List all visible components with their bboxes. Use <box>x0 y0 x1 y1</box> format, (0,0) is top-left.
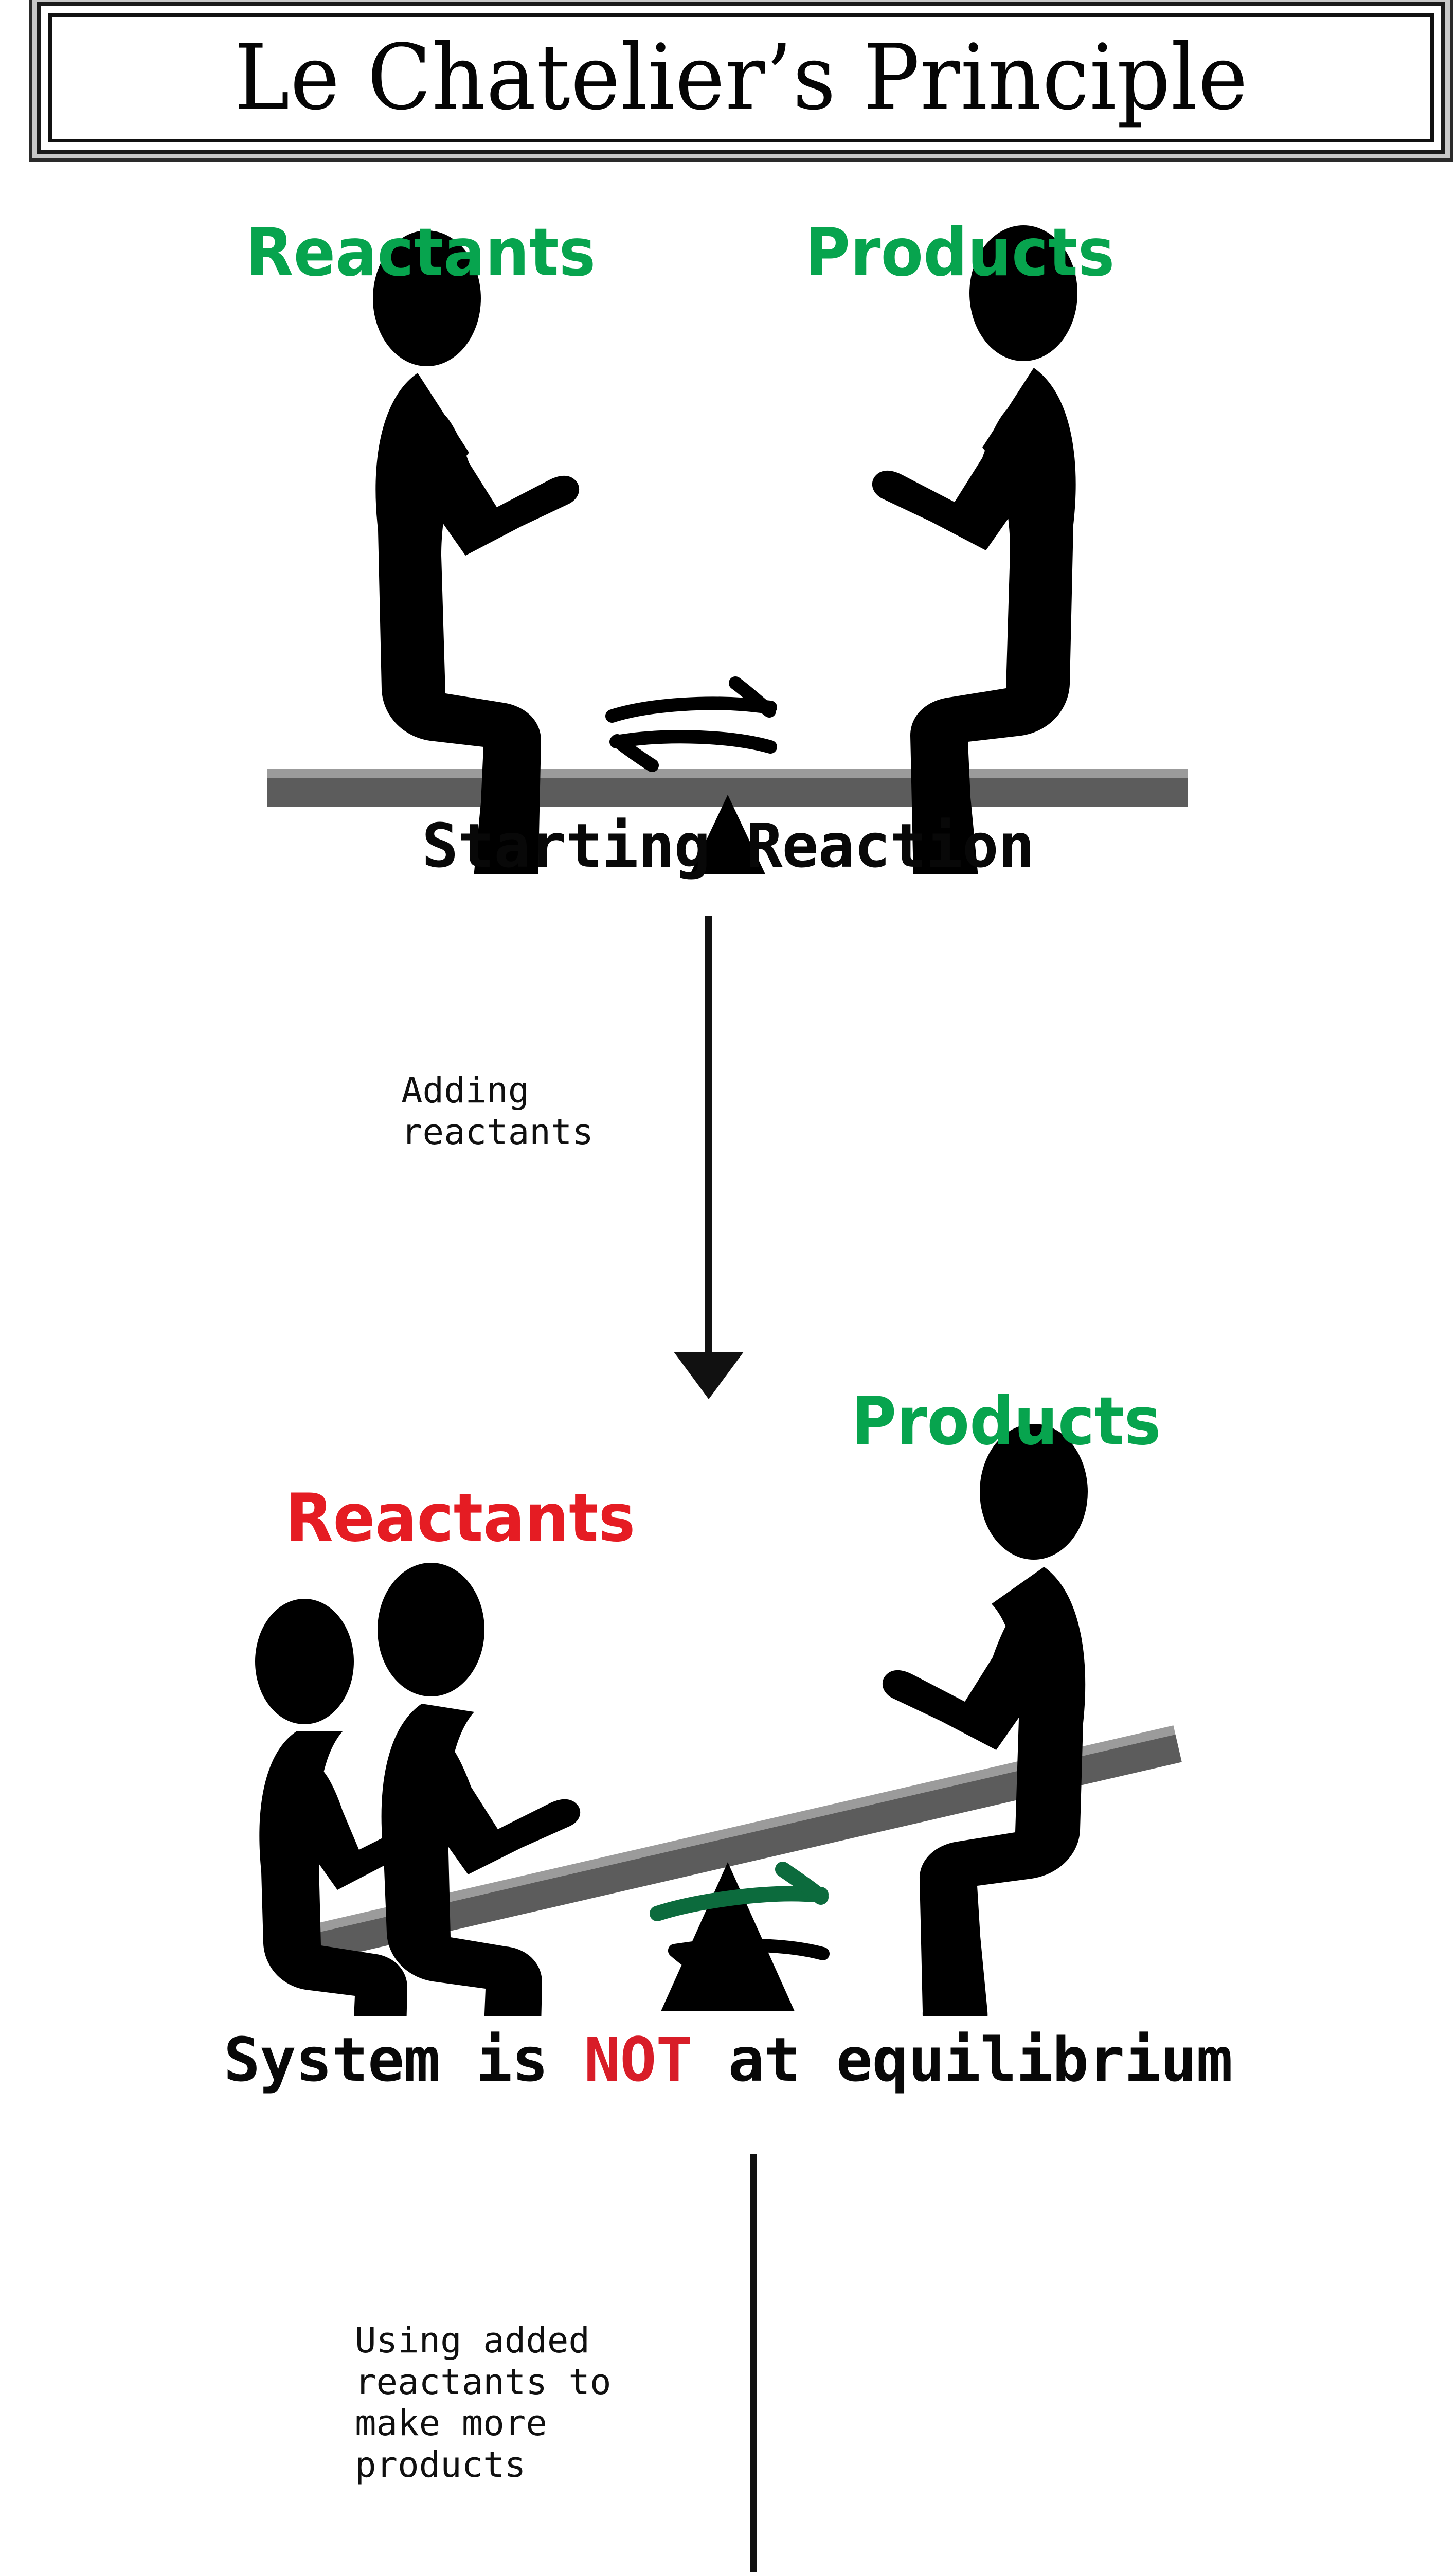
seesaw-diagram-tilted <box>0 1399 1456 2016</box>
panel-2-right-label: Products <box>851 1389 1161 1455</box>
stick-figure-product-1 <box>883 1424 1088 2016</box>
page-title: Le Chatelier’s Principle <box>234 33 1248 123</box>
title-inner-border: Le Chatelier’s Principle <box>48 13 1434 142</box>
panel-2-caption-prefix: System is <box>224 2024 584 2095</box>
panel-starting-reaction: Reactants Products <box>0 195 1456 874</box>
down-arrow-icon <box>0 2124 1456 2572</box>
fulcrum-triangle <box>661 1862 795 2011</box>
panel-1-left-label: Reactants <box>246 220 596 286</box>
stick-figure-reactant-2 <box>378 1563 580 2016</box>
seesaw-diagram-level-1-1 <box>0 195 1456 874</box>
panel-2-left-label: Reactants <box>285 1486 635 1551</box>
panel-not-at-equilibrium: Reactants Products <box>0 1399 1456 2016</box>
panel-1-caption: Starting Reaction <box>0 815 1456 876</box>
panel-1-caption-text: Starting Reaction <box>422 810 1034 881</box>
title-box: Le Chatelier’s Principle <box>37 2 1445 154</box>
equilibrium-arrow-icon <box>612 683 770 765</box>
step-add-reactants-note: Adding reactants <box>401 1070 594 1153</box>
step-make-products-note: Using added reactants to make more produ… <box>355 2320 612 2486</box>
panel-2-caption-suffix: at equilibrium <box>692 2024 1232 2095</box>
panel-1-right-label: Products <box>805 220 1115 286</box>
down-arrow-icon <box>0 916 1456 1404</box>
panel-2-caption: System is NOT at equilibrium <box>0 2029 1456 2090</box>
step-make-products: Using added reactants to make more produ… <box>0 2124 1456 2572</box>
step-add-reactants: Adding reactants <box>0 916 1456 1404</box>
panel-2-caption-highlight: NOT <box>584 2024 692 2095</box>
